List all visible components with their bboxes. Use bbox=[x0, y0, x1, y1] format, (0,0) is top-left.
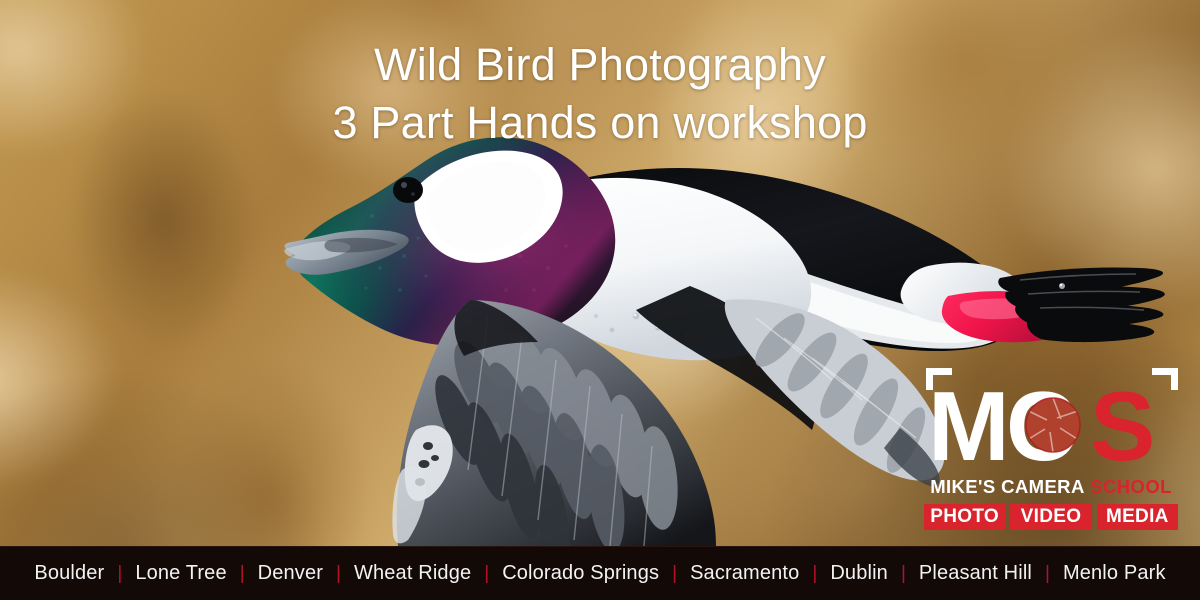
logo-badge-photo[interactable]: PHOTO bbox=[924, 504, 1005, 530]
mcs-wordmark: M C bbox=[922, 380, 1180, 468]
logo-badge-video[interactable]: VIDEO bbox=[1010, 504, 1091, 530]
location-item-colorado-springs[interactable]: Colorado Springs bbox=[489, 562, 672, 585]
location-item-pleasant-hill[interactable]: Pleasant Hill bbox=[906, 562, 1045, 585]
logo-tagline-white: MIKE'S CAMERA bbox=[930, 476, 1085, 497]
location-bar: Boulder | Lone Tree | Denver | Wheat Rid… bbox=[0, 546, 1200, 600]
location-item-sacramento[interactable]: Sacramento bbox=[677, 562, 812, 585]
duck-eye bbox=[393, 177, 423, 203]
location-item-dublin[interactable]: Dublin bbox=[817, 562, 901, 585]
logo-badge-row: PHOTO VIDEO MEDIA bbox=[924, 504, 1178, 530]
location-item-denver[interactable]: Denver bbox=[245, 562, 336, 585]
logo-badge-media[interactable]: MEDIA bbox=[1097, 504, 1178, 530]
location-item-menlo-park[interactable]: Menlo Park bbox=[1050, 562, 1179, 585]
location-item-lone-tree[interactable]: Lone Tree bbox=[122, 562, 239, 585]
camera-aperture-icon bbox=[1026, 398, 1080, 452]
duck-eye-glint bbox=[411, 192, 415, 196]
logo-tagline-red: SCHOOL bbox=[1090, 476, 1172, 497]
location-item-boulder[interactable]: Boulder bbox=[21, 562, 117, 585]
event-banner: Wild Bird Photography 3 Part Hands on wo… bbox=[0, 0, 1200, 600]
logo-letter-m: M bbox=[928, 380, 1010, 468]
water-droplet-primary bbox=[1059, 283, 1065, 289]
location-item-wheat-ridge[interactable]: Wheat Ridge bbox=[341, 562, 484, 585]
mikes-camera-school-logo[interactable]: M C bbox=[922, 368, 1180, 540]
duck-eye-highlight bbox=[401, 182, 407, 188]
logo-letter-s: S bbox=[1090, 380, 1155, 468]
water-droplet-primary-glint bbox=[1060, 284, 1062, 286]
logo-tagline: MIKE'S CAMERA SCHOOL bbox=[922, 476, 1180, 498]
